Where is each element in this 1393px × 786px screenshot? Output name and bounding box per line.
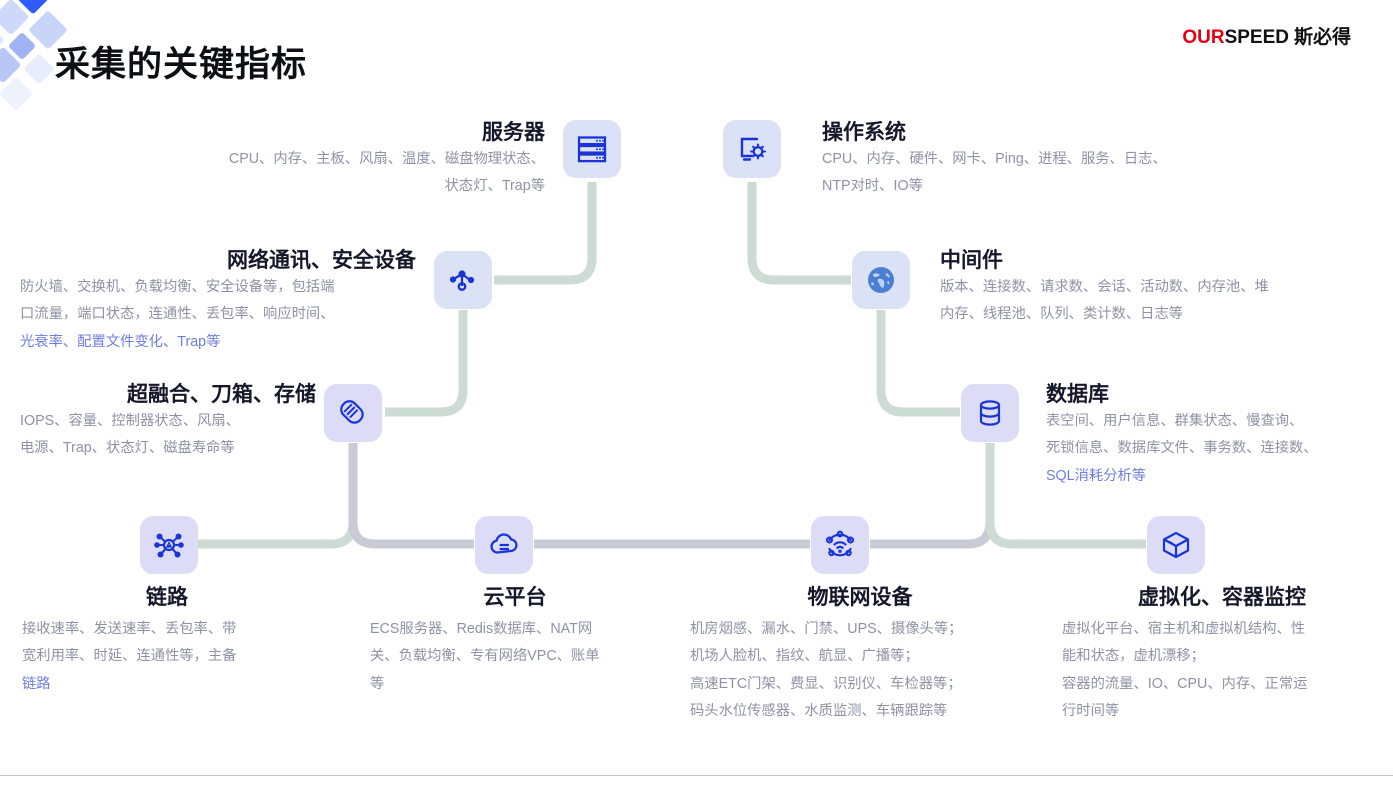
blade-storage-icon <box>336 396 370 430</box>
desc-line: 接收速率、发送速率、丢包率、带 <box>22 621 236 637</box>
node-icon-storage[interactable] <box>324 384 382 442</box>
desc-line: CPU、内存、主板、风扇、温度、磁盘物理状态、 <box>229 151 545 167</box>
node-icon-middleware[interactable] <box>852 251 910 309</box>
node-server: 服务器 CPU、内存、主板、风扇、温度、磁盘物理状态、 状态灯、Trap等 <box>150 120 545 201</box>
desc-line: 状态灯、Trap等 <box>445 178 545 194</box>
brand-logo: OURSPEED斯必得 <box>1182 22 1351 49</box>
node-storage: 超融合、刀箱、存储 IOPS、容量、控制器状态、风扇、 电源、Trap、状态灯、… <box>20 382 316 463</box>
desc-line: SQL消耗分析等 <box>1046 468 1146 484</box>
node-title-storage: 超融合、刀箱、存储 <box>20 382 316 408</box>
desc-line: 防火墙、交换机、负载均衡、安全设备等，包括端 <box>20 279 335 295</box>
node-desc-virtual: 虚拟化平台、宿主机和虚拟机结构、性 能和状态，虚机漂移； 容器的流量、IO、CP… <box>1062 616 1382 725</box>
server-rack-icon <box>575 132 609 166</box>
desc-line: 行时间等 <box>1062 703 1119 719</box>
desc-line: 光衰率、配置文件变化、Trap等 <box>20 334 220 350</box>
node-icon-cloud[interactable] <box>475 516 533 574</box>
desc-line: 等 <box>370 676 384 692</box>
node-middleware: 中间件 版本、连接数、请求数、会话、活动数、内存池、堆 内存、线程池、队列、类计… <box>940 248 1360 329</box>
cloud-icon <box>487 528 521 562</box>
desc-line: 容器的流量、IO、CPU、内存、正常运 <box>1062 676 1307 692</box>
node-cloud: 云平台 ECS服务器、Redis数据库、NAT网 关、负载均衡、专有网络VPC、… <box>370 585 660 698</box>
brand-speed: SPEED <box>1225 27 1289 48</box>
node-title-server: 服务器 <box>150 120 545 146</box>
brand-cn: 斯必得 <box>1294 27 1351 48</box>
desc-line: 关、负载均衡、专有网络VPC、账单 <box>370 648 600 664</box>
node-title-os: 操作系统 <box>822 120 1262 146</box>
node-icon-server[interactable] <box>563 120 621 178</box>
node-title-virtual: 虚拟化、容器监控 <box>1062 585 1382 611</box>
node-icon-database[interactable] <box>961 384 1019 442</box>
page-title: 采集的关键指标 <box>55 36 307 87</box>
node-title-link: 链路 <box>22 585 312 611</box>
node-icon-iot[interactable] <box>811 516 869 574</box>
desc-line: NTP对时、IO等 <box>822 178 923 194</box>
node-desc-middleware: 版本、连接数、请求数、会话、活动数、内存池、堆 内存、线程池、队列、类计数、日志… <box>940 274 1360 328</box>
globe-icon <box>865 264 897 296</box>
desc-line: CPU、内存、硬件、网卡、Ping、进程、服务、日志、 <box>822 151 1167 167</box>
network-topology-icon <box>446 263 480 297</box>
node-desc-link: 接收速率、发送速率、丢包率、带 宽利用率、时延、连通性等，主备 链路 <box>22 616 312 697</box>
node-os: 操作系统 CPU、内存、硬件、网卡、Ping、进程、服务、日志、 NTP对时、I… <box>822 120 1262 201</box>
node-virtual: 虚拟化、容器监控 虚拟化平台、宿主机和虚拟机结构、性 能和状态，虚机漂移； 容器… <box>1062 585 1382 725</box>
node-link: 链路 接收速率、发送速率、丢包率、带 宽利用率、时延、连通性等，主备 链路 <box>22 585 312 698</box>
desc-line: 码头水位传感器、水质监测、车辆跟踪等 <box>690 703 947 719</box>
desc-line: 能和状态，虚机漂移； <box>1062 648 1205 664</box>
node-network: 网络通讯、安全设备 防火墙、交换机、负载均衡、安全设备等，包括端 口流量，端口状… <box>20 248 416 356</box>
node-title-middleware: 中间件 <box>940 248 1360 274</box>
desc-line: 版本、连接数、请求数、会话、活动数、内存池、堆 <box>940 279 1269 295</box>
monitor-gear-icon <box>735 132 769 166</box>
desc-line: 宽利用率、时延、连通性等，主备 <box>22 648 236 664</box>
node-desc-iot: 机房烟感、漏水、门禁、UPS、摄像头等； 机场人脸机、指纹、航显、广播等； 高速… <box>690 616 1030 725</box>
desc-line: 口流量，端口状态，连通性、丢包率、响应时间、 <box>20 306 335 322</box>
desc-line: 机场人脸机、指纹、航显、广播等； <box>690 648 919 664</box>
node-desc-network: 防火墙、交换机、负载均衡、安全设备等，包括端 口流量，端口状态，连通性、丢包率、… <box>20 274 416 355</box>
desc-line: IOPS、容量、控制器状态、风扇、 <box>20 413 240 429</box>
desc-line: 机房烟感、漏水、门禁、UPS、摄像头等； <box>690 621 962 637</box>
node-desc-server: CPU、内存、主板、风扇、温度、磁盘物理状态、 状态灯、Trap等 <box>150 146 545 200</box>
desc-line: 虚拟化平台、宿主机和虚拟机结构、性 <box>1062 621 1305 637</box>
node-desc-database: 表空间、用户信息、群集状态、慢查询、 死锁信息、数据库文件、事务数、连接数、 S… <box>1046 408 1386 489</box>
cube-icon <box>1159 528 1193 562</box>
node-icon-network[interactable] <box>434 251 492 309</box>
node-iot: 物联网设备 机房烟感、漏水、门禁、UPS、摄像头等； 机场人脸机、指纹、航显、广… <box>690 585 1030 725</box>
desc-line: 内存、线程池、队列、类计数、日志等 <box>940 306 1183 322</box>
node-icon-os[interactable] <box>723 120 781 178</box>
database-icon <box>974 397 1006 429</box>
desc-line: 死锁信息、数据库文件、事务数、连接数、 <box>1046 440 1318 456</box>
desc-line: 电源、Trap、状态灯、磁盘寿命等 <box>20 440 235 456</box>
link-node-icon <box>152 528 186 562</box>
iot-wifi-icon <box>823 528 857 562</box>
node-desc-os: CPU、内存、硬件、网卡、Ping、进程、服务、日志、 NTP对时、IO等 <box>822 146 1262 200</box>
desc-line: 链路 <box>22 676 51 692</box>
node-title-network: 网络通讯、安全设备 <box>20 248 416 274</box>
node-title-iot: 物联网设备 <box>690 585 1030 611</box>
slide-canvas: 采集的关键指标 OURSPEED斯必得 <box>0 0 1393 786</box>
footer-divider <box>0 775 1393 776</box>
node-icon-virtual[interactable] <box>1147 516 1205 574</box>
node-desc-storage: IOPS、容量、控制器状态、风扇、 电源、Trap、状态灯、磁盘寿命等 <box>20 408 316 462</box>
node-title-database: 数据库 <box>1046 382 1386 408</box>
node-desc-cloud: ECS服务器、Redis数据库、NAT网 关、负载均衡、专有网络VPC、账单 等 <box>370 616 660 697</box>
desc-line: ECS服务器、Redis数据库、NAT网 <box>370 621 592 637</box>
node-title-cloud: 云平台 <box>370 585 660 611</box>
desc-line: 表空间、用户信息、群集状态、慢查询、 <box>1046 413 1303 429</box>
desc-line: 高速ETC门架、费显、识别仪、车检器等； <box>690 676 962 692</box>
node-database: 数据库 表空间、用户信息、群集状态、慢查询、 死锁信息、数据库文件、事务数、连接… <box>1046 382 1386 490</box>
node-icon-link[interactable] <box>140 516 198 574</box>
brand-our: OUR <box>1182 27 1224 48</box>
